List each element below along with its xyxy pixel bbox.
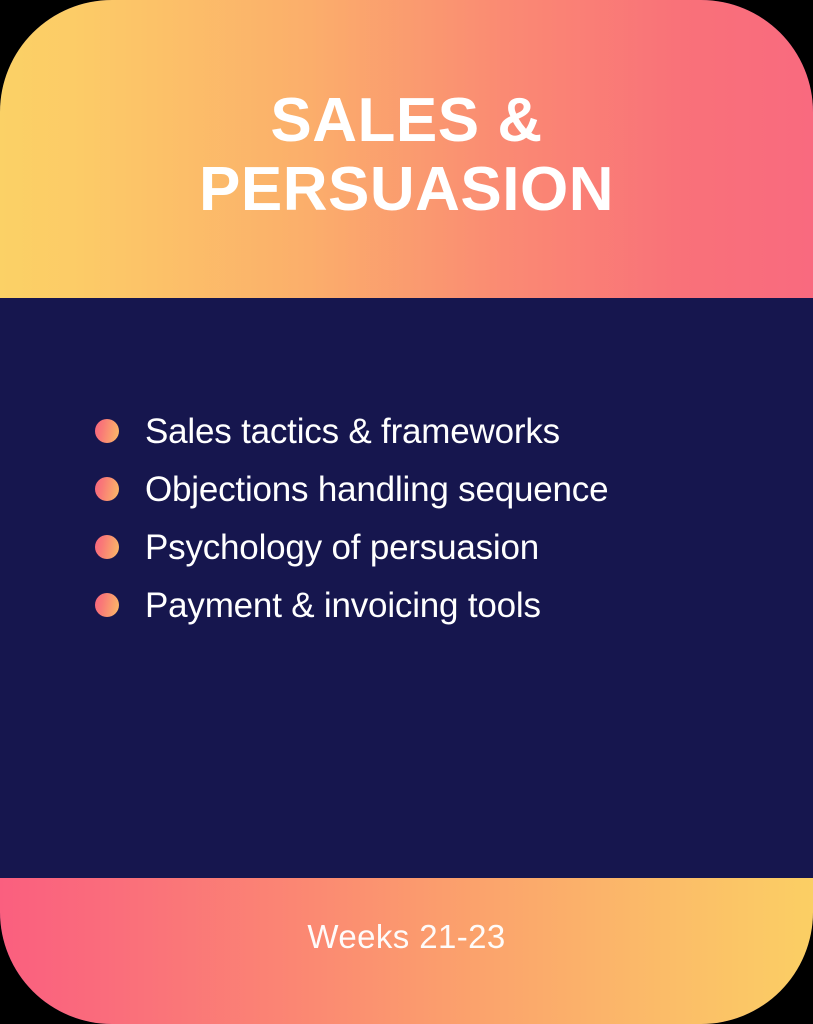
card-footer: Weeks 21-23: [0, 878, 813, 1024]
list-item-label: Payment & invoicing tools: [145, 588, 541, 623]
page-title: Sales & Persuasion: [159, 86, 654, 225]
list-item-label: Psychology of persuasion: [145, 530, 539, 565]
list-item-label: Objections handling sequence: [145, 472, 608, 507]
topic-list: Sales tactics & frameworks Objections ha…: [0, 402, 813, 634]
list-item[interactable]: Payment & invoicing tools: [95, 576, 813, 634]
duration-label: Weeks 21-23: [307, 878, 505, 953]
list-item[interactable]: Objections handling sequence: [95, 460, 813, 518]
bullet-dot-icon: [95, 419, 119, 443]
course-module-card: Sales & Persuasion Sales tactics & frame…: [0, 0, 813, 1024]
card-body: Sales tactics & frameworks Objections ha…: [0, 298, 813, 878]
bullet-dot-icon: [95, 535, 119, 559]
list-item-label: Sales tactics & frameworks: [145, 414, 560, 449]
list-item[interactable]: Psychology of persuasion: [95, 518, 813, 576]
bullet-dot-icon: [95, 477, 119, 501]
list-item[interactable]: Sales tactics & frameworks: [95, 402, 813, 460]
bullet-dot-icon: [95, 593, 119, 617]
card-header: Sales & Persuasion: [0, 0, 813, 298]
